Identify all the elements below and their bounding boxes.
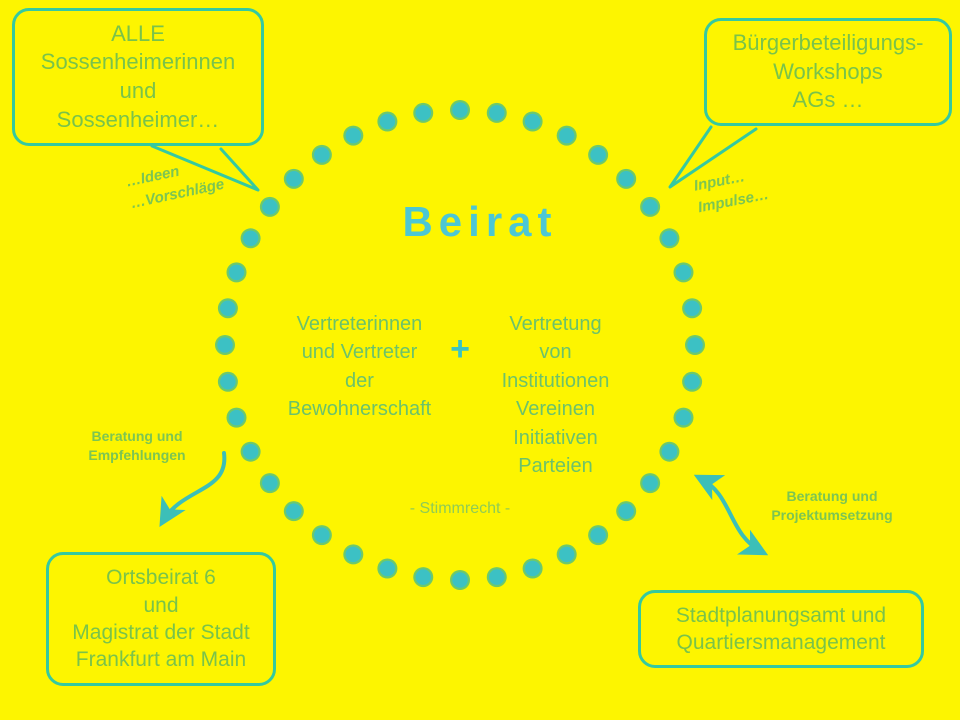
diagram-canvas: Beirat + Vertreterinnen und Vertreter de… [0, 0, 960, 720]
hub-left-line: der [272, 367, 447, 395]
callout-alle-line: ALLE [21, 20, 255, 49]
box-stadtplanung-line: Quartiersmanagement [647, 629, 915, 656]
ring-dot [452, 102, 468, 118]
ring-dot [618, 503, 634, 519]
box-ortsbeirat-line: Frankfurt am Main [55, 646, 267, 673]
hub-column-right: Vertretung von Institutionen Vereinen In… [468, 310, 643, 480]
hub-left-line: und Vertreter [272, 338, 447, 366]
callout-alle-sossenheimer[interactable]: ALLE Sossenheimerinnen und Sossenheimer… [12, 8, 264, 146]
box-ortsbeirat-magistrat[interactable]: Ortsbeirat 6 und Magistrat der Stadt Fra… [46, 552, 276, 686]
ring-dot [415, 105, 431, 121]
ring-dot [286, 171, 302, 187]
ring-dot [217, 337, 233, 353]
ring-dot [346, 128, 362, 144]
hub-right-line: Parteien [468, 452, 643, 480]
ring-dot [684, 300, 700, 316]
callout-alle-line: Sossenheimer… [21, 106, 255, 135]
label-beratung-projektumsetzung: Beratung und Projektumsetzung [742, 487, 922, 526]
ring-dot [687, 337, 703, 353]
hub-left-line: Bewohnerschaft [272, 395, 447, 423]
ring-dot [662, 444, 678, 460]
ring-dot [229, 265, 245, 281]
box-stadtplanungsamt-quartiersmanagement[interactable]: Stadtplanungsamt und Quartiersmanagement [638, 590, 924, 668]
box-ortsbeirat-line: Magistrat der Stadt [55, 619, 267, 646]
box-ortsbeirat-line: Ortsbeirat 6 [55, 564, 267, 591]
label-beratung-empf-line: Empfehlungen [62, 446, 212, 465]
label-beratung-empfehlungen: Beratung und Empfehlungen [62, 427, 212, 466]
callout-alle-line: Sossenheimerinnen [21, 48, 255, 77]
label-beratung-proj-line: Beratung und [742, 487, 922, 506]
ring-dot [559, 547, 575, 563]
stimmrecht-note: - Stimmrecht - [320, 500, 600, 518]
ring-dot [220, 374, 236, 390]
ring-dot [590, 527, 606, 543]
ring-dot [684, 374, 700, 390]
ring-dot [220, 300, 236, 316]
hub-right-line: Vertretung [468, 310, 643, 338]
ring-dot [286, 503, 302, 519]
ring-dot [676, 410, 692, 426]
callout-alle-line: und [21, 77, 255, 106]
ring-dot [489, 569, 505, 585]
ring-dot [243, 444, 259, 460]
callout-buergerbeteiligung[interactable]: Bürgerbeteiligungs- Workshops AGs … [704, 18, 952, 126]
ring-dot [346, 547, 362, 563]
ring-dot [525, 114, 541, 130]
callout-workshops-line: Bürgerbeteiligungs- [713, 29, 943, 58]
label-beratung-empf-line: Beratung und [62, 427, 212, 446]
box-ortsbeirat-line: und [55, 592, 267, 619]
ring-dot [590, 147, 606, 163]
ring-dot [262, 475, 278, 491]
box-stadtplanung-text: Stadtplanungsamt und Quartiersmanagement [641, 602, 921, 657]
callout-workshops-text: Bürgerbeteiligungs- Workshops AGs … [707, 29, 949, 115]
ring-dot [559, 128, 575, 144]
ring-dot [314, 527, 330, 543]
ring-dot [380, 114, 396, 130]
ring-dot [525, 561, 541, 577]
label-beratung-proj-line: Projektumsetzung [742, 506, 922, 525]
ring-dot [676, 265, 692, 281]
ring-dot [380, 561, 396, 577]
box-stadtplanung-line: Stadtplanungsamt und [647, 602, 915, 629]
ring-dot [415, 569, 431, 585]
box-ortsbeirat-text: Ortsbeirat 6 und Magistrat der Stadt Fra… [49, 564, 273, 673]
hub-right-line: Institutionen [468, 367, 643, 395]
ring-dot [489, 105, 505, 121]
callout-alle-text: ALLE Sossenheimerinnen und Sossenheimer… [15, 20, 261, 134]
hub-left-line: Vertreterinnen [272, 310, 447, 338]
ring-dot [642, 475, 658, 491]
hub-right-line: Vereinen [468, 395, 643, 423]
callout-workshops-line: AGs … [713, 86, 943, 115]
hub-right-line: von [468, 338, 643, 366]
hub-column-left: Vertreterinnen und Vertreter der Bewohne… [272, 310, 447, 424]
ring-dot [618, 171, 634, 187]
ring-dot [314, 147, 330, 163]
callout-workshops-line: Workshops [713, 58, 943, 87]
ring-dot [452, 572, 468, 588]
ring-dot [229, 410, 245, 426]
hub-right-line: Initiativen [468, 424, 643, 452]
